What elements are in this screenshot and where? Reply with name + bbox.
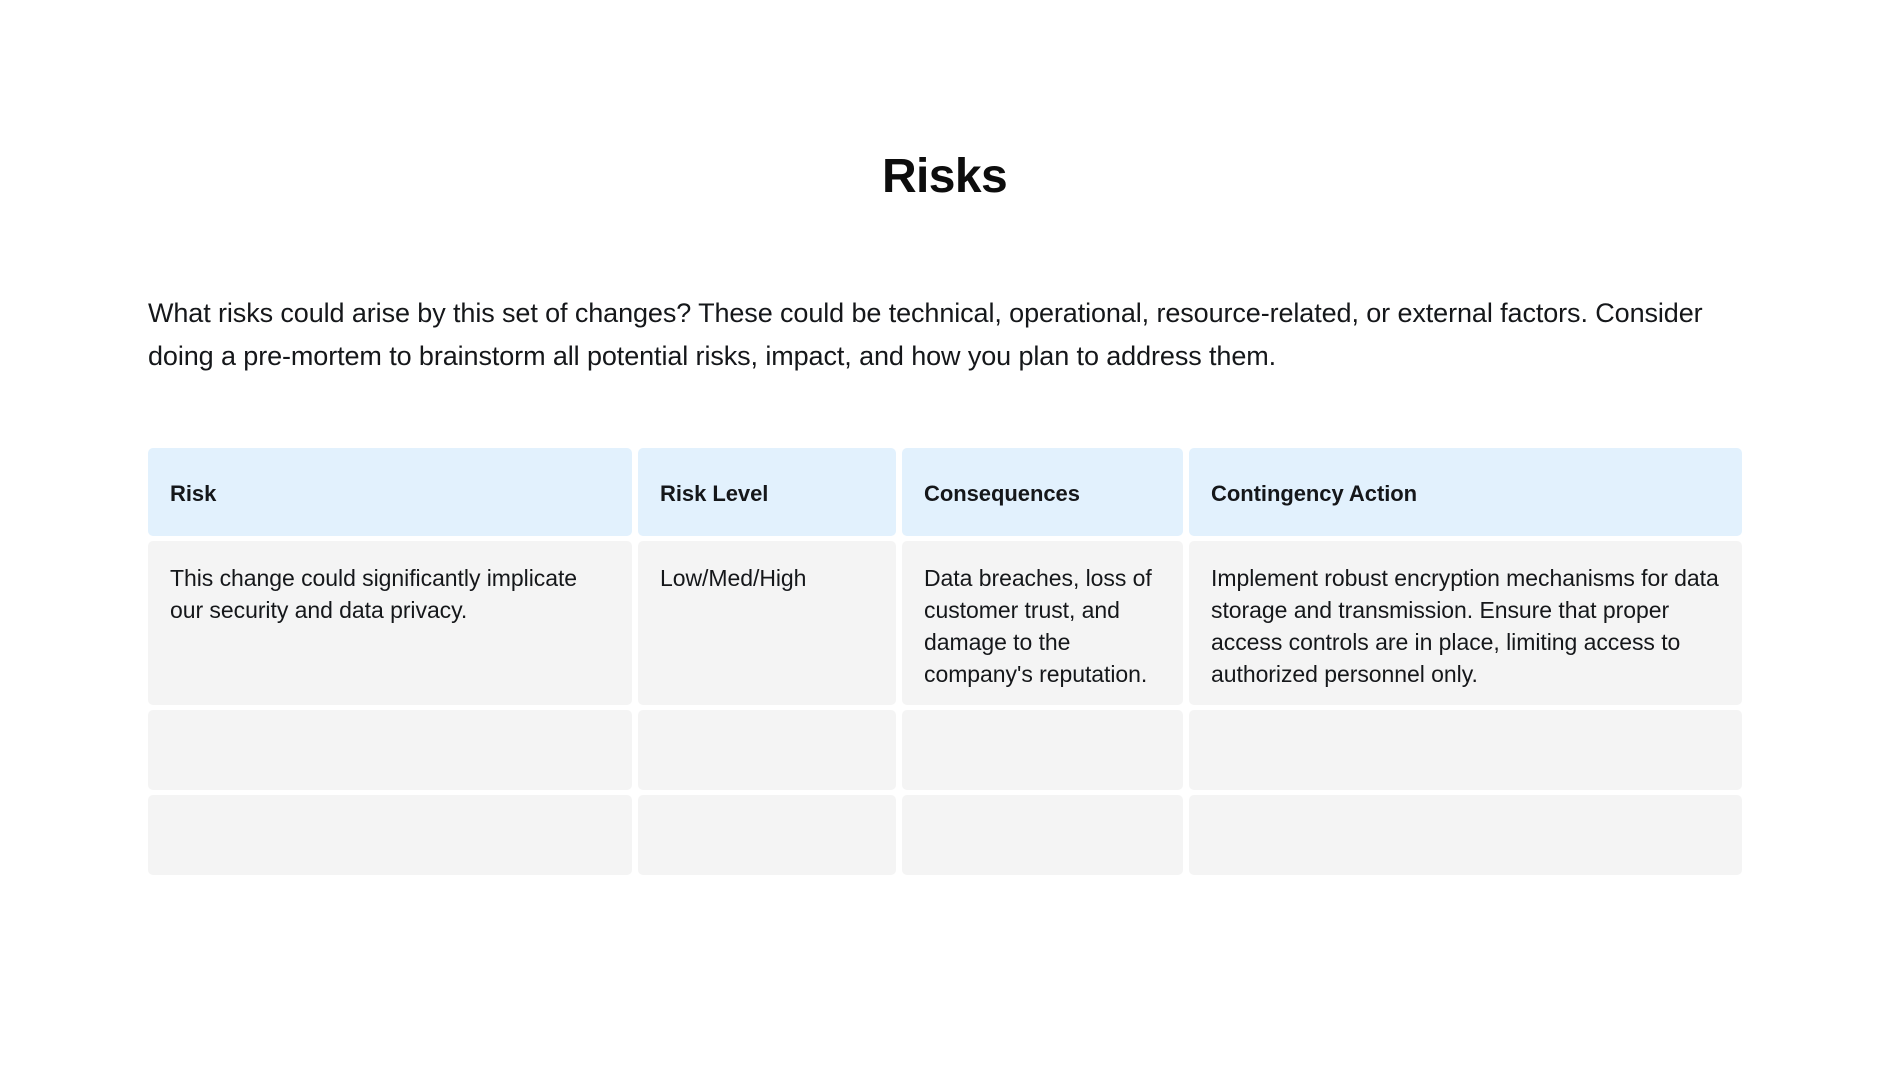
column-header-risk[interactable]: Risk [148,448,632,536]
column-header-contingency-action[interactable]: Contingency Action [1189,448,1742,536]
cell-risk-level[interactable] [638,795,896,875]
cell-consequences[interactable]: Data breaches, loss of customer trust, a… [902,541,1183,705]
table-row [148,710,1748,790]
cell-risk[interactable] [148,710,632,790]
cell-consequences[interactable] [902,710,1183,790]
cell-contingency-action[interactable]: Implement robust encryption mechanisms f… [1189,541,1742,705]
page-title: Risks [0,148,1889,206]
table-row: This change could significantly implicat… [148,541,1748,705]
table-row [148,795,1748,875]
cell-consequences[interactable] [902,795,1183,875]
intro-paragraph: What risks could arise by this set of ch… [148,292,1708,378]
risks-page: Risks What risks could arise by this set… [0,0,1889,1080]
risk-table: Risk Risk Level Consequences Contingency… [148,448,1748,880]
cell-risk-level[interactable] [638,710,896,790]
column-header-consequences[interactable]: Consequences [902,448,1183,536]
cell-contingency-action[interactable] [1189,795,1742,875]
cell-risk[interactable]: This change could significantly implicat… [148,541,632,705]
column-header-risk-level[interactable]: Risk Level [638,448,896,536]
cell-contingency-action[interactable] [1189,710,1742,790]
table-header-row: Risk Risk Level Consequences Contingency… [148,448,1748,536]
cell-risk-level[interactable]: Low/Med/High [638,541,896,705]
cell-risk[interactable] [148,795,632,875]
